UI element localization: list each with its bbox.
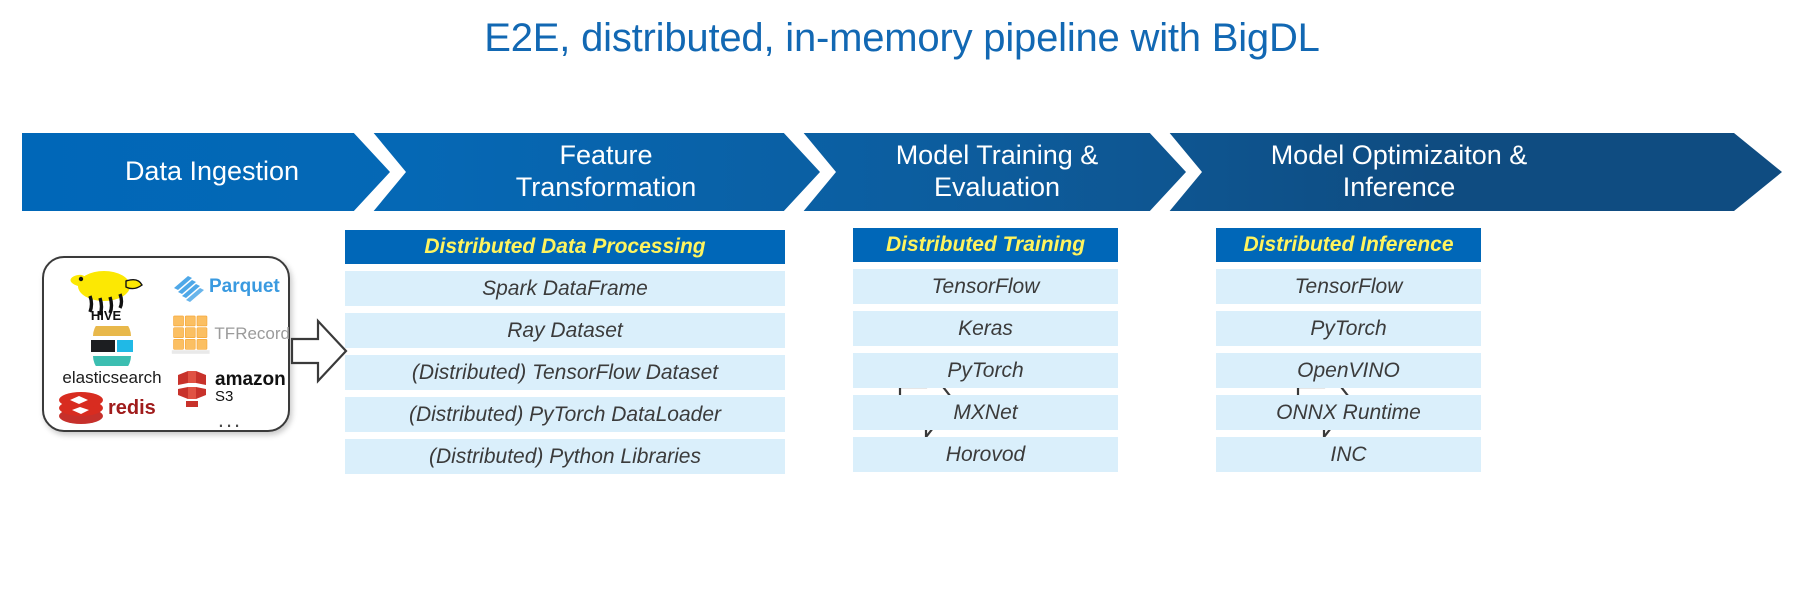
table-header: Distributed Inference bbox=[1216, 228, 1481, 262]
tfrecord-label: TFRecord bbox=[214, 324, 290, 344]
chevron-right-icon bbox=[344, 131, 406, 213]
table-header: Distributed Data Processing bbox=[345, 230, 785, 264]
elasticsearch-logo: elasticsearch bbox=[56, 326, 168, 388]
page-title: E2E, distributed, in-memory pipeline wit… bbox=[0, 16, 1804, 61]
table-row[interactable]: (Distributed) Python Libraries bbox=[345, 439, 785, 474]
table-header: Distributed Training bbox=[853, 228, 1118, 262]
table-row[interactable]: MXNet bbox=[853, 395, 1118, 430]
pipeline-stage-banner: Data Ingestion Feature Transformation Mo… bbox=[22, 133, 1782, 211]
elasticsearch-label: elasticsearch bbox=[62, 368, 161, 388]
table-row[interactable]: Horovod bbox=[853, 437, 1118, 472]
table-row[interactable]: Ray Dataset bbox=[345, 313, 785, 348]
table-row[interactable]: Keras bbox=[853, 311, 1118, 346]
table-row[interactable]: PyTorch bbox=[1216, 311, 1481, 346]
distributed-inference-table: Distributed Inference TensorFlow PyTorch… bbox=[1216, 228, 1481, 472]
amazon-s3-logo: amazon S3 bbox=[172, 362, 290, 412]
hive-logo: HIVE bbox=[64, 266, 164, 322]
table-row[interactable]: Spark DataFrame bbox=[345, 271, 785, 306]
table-row[interactable]: (Distributed) TensorFlow Dataset bbox=[345, 355, 785, 390]
table-row[interactable]: PyTorch bbox=[853, 353, 1118, 388]
table-row[interactable]: ONNX Runtime bbox=[1216, 395, 1481, 430]
redis-label: redis bbox=[108, 397, 156, 420]
data-source-logo-box: HIVE elasticsearch redis bbox=[42, 256, 290, 432]
amazon-word: amazon bbox=[215, 369, 286, 390]
parquet-label: Parquet bbox=[209, 276, 280, 298]
svg-text:HIVE: HIVE bbox=[91, 308, 122, 322]
tfrecord-logo: TFRecord bbox=[170, 308, 290, 360]
s3-word: S3 bbox=[215, 388, 233, 405]
chevron-right-icon bbox=[774, 131, 836, 213]
table-row[interactable]: OpenVINO bbox=[1216, 353, 1481, 388]
block-arrow-ingestion-to-transformation bbox=[290, 313, 348, 389]
parquet-logo: Parquet bbox=[172, 268, 290, 306]
distributed-training-table: Distributed Training TensorFlow Keras Py… bbox=[853, 228, 1118, 472]
more-sources-ellipsis: ... bbox=[200, 410, 260, 430]
table-row[interactable]: TensorFlow bbox=[853, 269, 1118, 304]
banner-background bbox=[22, 133, 1782, 211]
amazon-s3-label: amazon S3 bbox=[215, 370, 286, 405]
chevron-right-icon bbox=[1140, 131, 1202, 213]
table-row[interactable]: TensorFlow bbox=[1216, 269, 1481, 304]
logo-column-right: Parquet TFRecord bbox=[170, 262, 290, 430]
table-row[interactable]: INC bbox=[1216, 437, 1481, 472]
logo-column-left: HIVE elasticsearch redis bbox=[50, 262, 172, 430]
table-row[interactable]: (Distributed) PyTorch DataLoader bbox=[345, 397, 785, 432]
redis-logo: redis bbox=[58, 388, 170, 428]
distributed-data-processing-table: Distributed Data Processing Spark DataFr… bbox=[345, 230, 785, 474]
